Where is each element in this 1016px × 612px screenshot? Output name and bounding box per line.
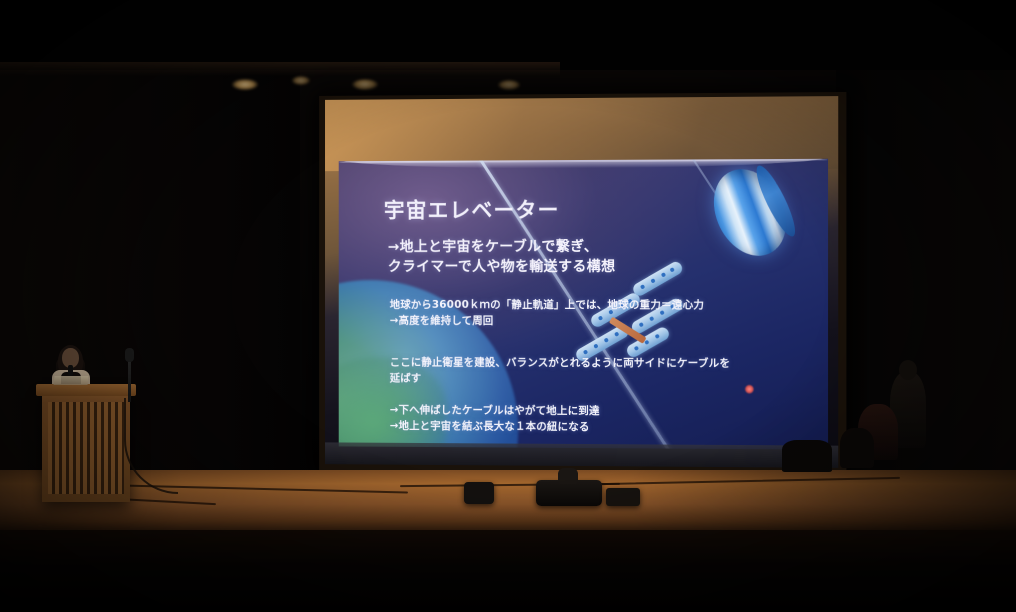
lecture-hall-scene: 宇宙エレベーター →地上と宇宙をケーブルで繋ぎ、 クライマーで人や物を輸送する構… [0, 0, 1016, 612]
presentation-slide: 宇宙エレベーター →地上と宇宙をケーブルで繋ぎ、 クライマーで人や物を輸送する構… [339, 159, 828, 450]
microphone-stand [128, 356, 131, 402]
slide-body-line: →高度を維持して周回 [390, 314, 704, 330]
slide-subtitle: →地上と宇宙をケーブルで繋ぎ、 クライマーで人や物を輸送する構想 [388, 238, 616, 278]
slide-body-line: 地球から36000ｋｍの「静止軌道」上では、地球の重力＝遠心力 [390, 298, 704, 314]
ceiling-light-icon [352, 79, 378, 90]
stage-apron-shadow [0, 530, 1016, 612]
slide-body-block-1: 地球から36000ｋｍの「静止軌道」上では、地球の重力＝遠心力 →高度を維持して… [390, 298, 704, 330]
audience-member [782, 440, 832, 472]
slide-title: 宇宙エレベーター [384, 194, 560, 224]
ceiling-light-rail [0, 62, 560, 76]
microphone-icon [68, 365, 73, 376]
slide-body-block-3: →下へ伸ばしたケーブルはやがて地上に到達 →地上と宇宙を結ぶ長大な１本の紐になる [390, 403, 600, 436]
slide-body-line: →地上と宇宙を結ぶ長大な１本の紐になる [390, 419, 600, 436]
stage-equipment [464, 482, 494, 504]
podium-notes [54, 376, 89, 385]
slide-text-layer: 宇宙エレベーター →地上と宇宙をケーブルで繋ぎ、 クライマーで人や物を輸送する構… [339, 159, 828, 450]
slide-subtitle-line-2: クライマーで人や物を輸送する構想 [388, 258, 616, 278]
projection-screen: 宇宙エレベーター →地上と宇宙をケーブルで繋ぎ、 クライマーで人や物を輸送する構… [319, 92, 846, 476]
podium-top-surface [36, 384, 136, 396]
slide-body-line: ここに静止衛星を建設、バランスがとれるように両サイドにケーブルを [390, 355, 794, 372]
screen-surface: 宇宙エレベーター →地上と宇宙をケーブルで繋ぎ、 クライマーで人や物を輸送する構… [325, 96, 838, 468]
slide-body-line: 延ばす [390, 371, 794, 388]
audience-member [840, 428, 874, 468]
podium-slats [48, 402, 124, 494]
slide-body-line: →下へ伸ばしたケーブルはやがて地上に到達 [390, 403, 600, 420]
slide-body-block-2: ここに静止衛星を建設、バランスがとれるように両サイドにケーブルを 延ばす [390, 355, 794, 388]
stage-monitor-speaker [536, 480, 602, 506]
ceiling-light-icon [232, 79, 258, 90]
screen-bottom-band [325, 442, 838, 468]
stage-equipment [606, 488, 640, 506]
ceiling-light-icon [498, 80, 520, 90]
slide-subtitle-line-1: →地上と宇宙をケーブルで繋ぎ、 [388, 238, 616, 258]
wooden-podium [42, 392, 130, 502]
ceiling-light-icon [292, 76, 310, 85]
